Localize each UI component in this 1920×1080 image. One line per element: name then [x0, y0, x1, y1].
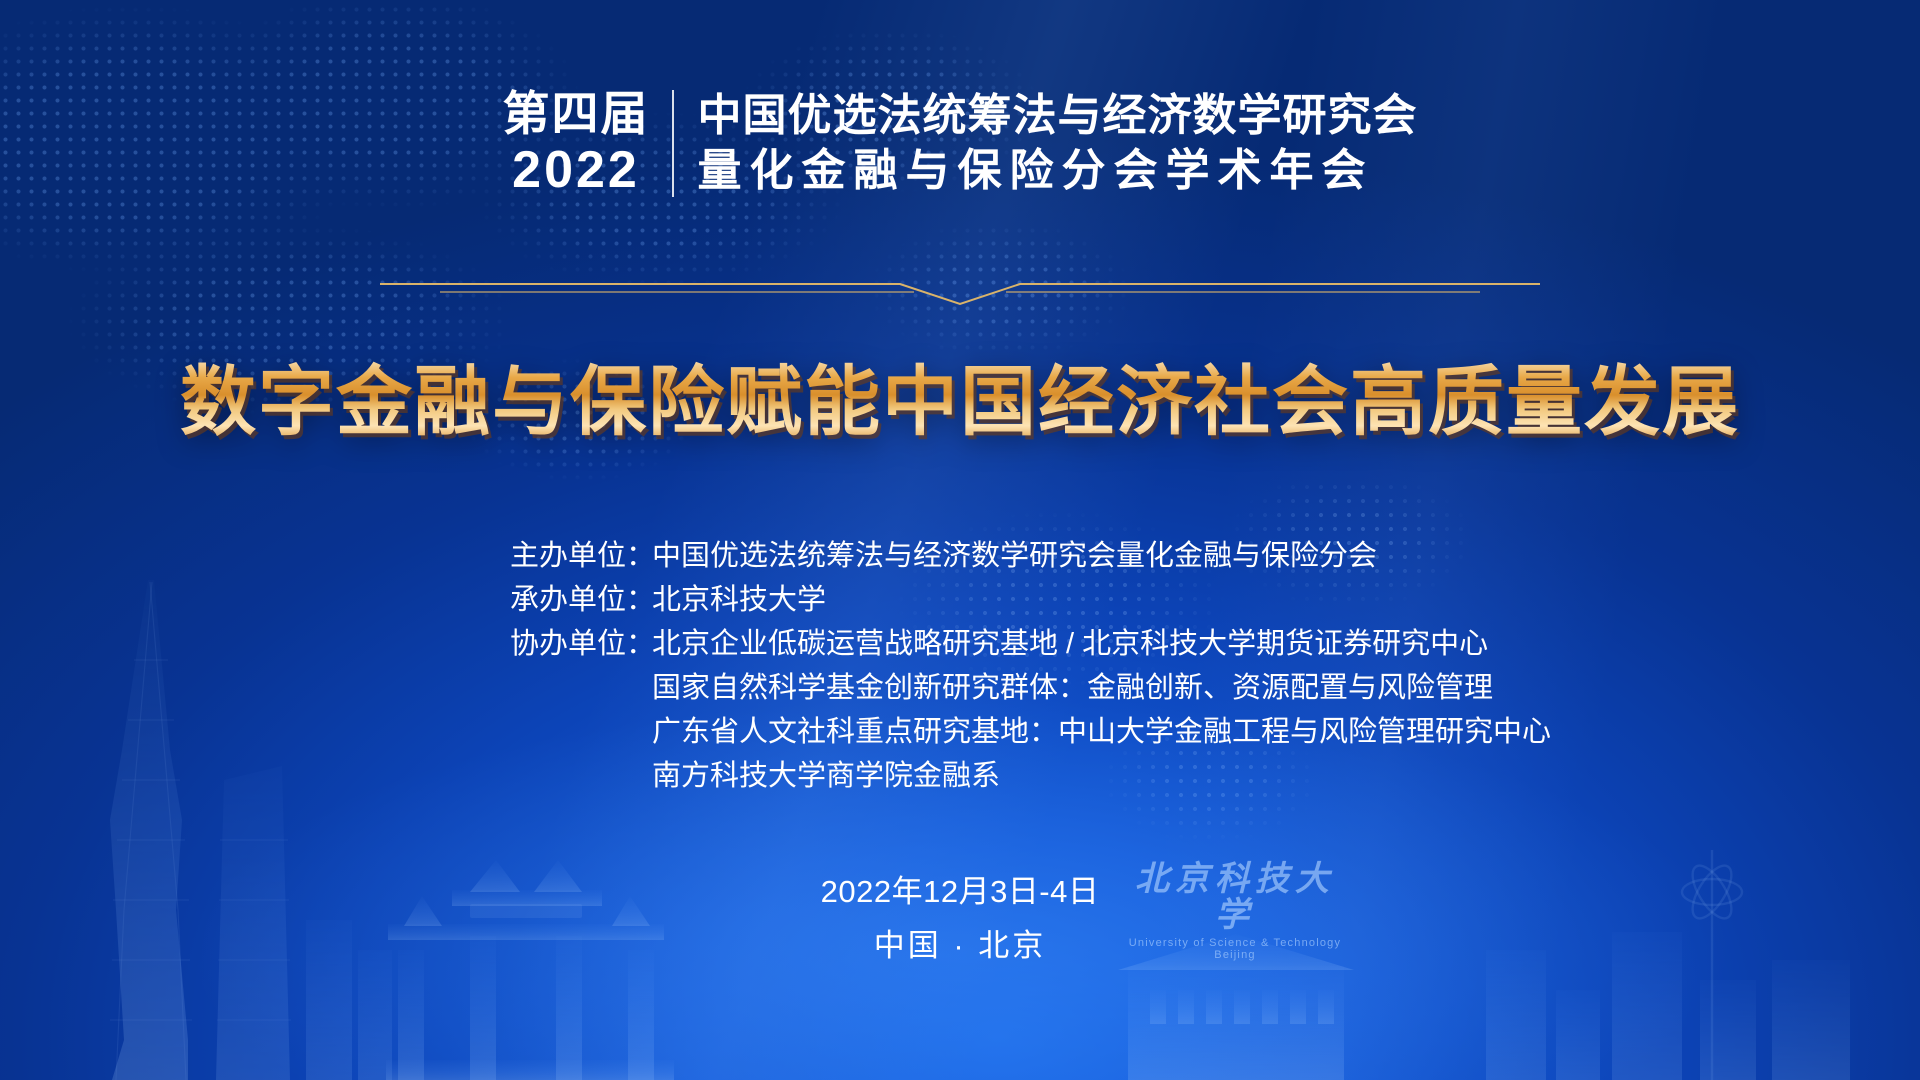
event-date: 2022年12月3日-4日 — [0, 870, 1920, 915]
society-name-block: 中国优选法统筹法与经济数学研究会 量化金融与保险分会学术年会 — [674, 86, 1418, 201]
edition-year: 2022 — [512, 141, 640, 201]
info-label-host: 主办单位： — [510, 534, 652, 578]
info-value-coorganizer-3: 广东省人文社科重点研究基地：中山大学金融工程与风险管理研究中心 — [652, 710, 1551, 754]
society-name-line-2: 量化金融与保险分会学术年会 — [698, 144, 1418, 199]
info-row-coorganizer-3: 协办单位： 广东省人文社科重点研究基地：中山大学金融工程与风险管理研究中心 — [510, 710, 1410, 754]
info-row-organizer: 承办单位： 北京科技大学 — [510, 578, 1410, 622]
info-value-host: 中国优选法统筹法与经济数学研究会量化金融与保险分会 — [652, 534, 1410, 578]
info-row-coorganizer-1: 协办单位： 北京企业低碳运营战略研究基地 / 北京科技大学期货证券研究中心 — [510, 622, 1410, 666]
info-row-coorganizer-2: 协办单位： 国家自然科学基金创新研究群体：金融创新、资源配置与风险管理 — [510, 666, 1410, 710]
conference-poster: 第四届 2022 中国优选法统筹法与经济数学研究会 量化金融与保险分会学术年会 … — [0, 0, 1920, 1080]
info-value-coorganizer-1: 北京企业低碳运营战略研究基地 / 北京科技大学期货证券研究中心 — [652, 622, 1488, 666]
info-value-organizer: 北京科技大学 — [652, 578, 1410, 622]
event-datetime-block: 2022年12月3日-4日 中国 · 北京 — [0, 870, 1920, 971]
gold-divider-ornament — [380, 281, 1540, 307]
organizer-info-block: 主办单位： 中国优选法统筹法与经济数学研究会量化金融与保险分会 承办单位： 北京… — [0, 534, 1920, 798]
info-value-coorganizer-4: 南方科技大学商学院金融系 — [652, 754, 1410, 798]
society-name-line-1: 中国优选法统筹法与经济数学研究会 — [698, 89, 1418, 144]
poster-header: 第四届 2022 中国优选法统筹法与经济数学研究会 量化金融与保险分会学术年会 — [0, 86, 1920, 201]
info-label-organizer: 承办单位： — [510, 578, 652, 622]
info-row-coorganizer-4: 协办单位： 南方科技大学商学院金融系 — [510, 754, 1410, 798]
world-map-dot-pattern — [0, 0, 1140, 550]
info-row-host: 主办单位： 中国优选法统筹法与经济数学研究会量化金融与保险分会 — [510, 534, 1410, 578]
event-location: 中国 · 北京 — [0, 921, 1920, 971]
page-title: 数字金融与保险赋能中国经济社会高质量发展 — [0, 340, 1920, 450]
edition-ordinal: 第四届 — [503, 86, 650, 141]
edition-block: 第四届 2022 — [503, 86, 672, 201]
info-value-coorganizer-2: 国家自然科学基金创新研究群体：金融创新、资源配置与风险管理 — [652, 666, 1493, 710]
info-label-coorganizer: 协办单位： — [510, 622, 652, 666]
